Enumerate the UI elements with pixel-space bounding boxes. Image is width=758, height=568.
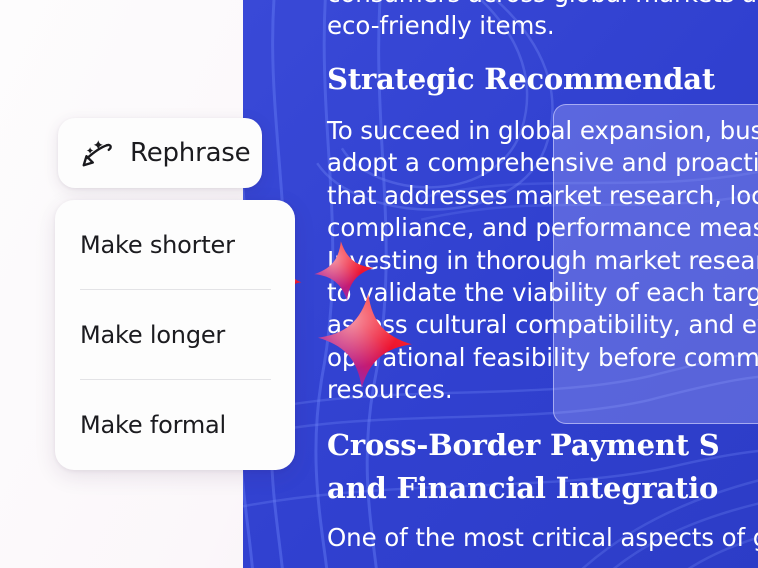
rephrase-button-label: Rephrase — [130, 138, 250, 168]
menu-item-label: Make formal — [80, 411, 226, 439]
magic-wand-sparkle-icon — [76, 133, 116, 173]
heading-strategic-recommendations: Strategic Recommendat — [327, 58, 758, 101]
rephrase-options-menu: Make shorter Make longer Make formal — [55, 200, 295, 470]
screen-root: consumers across global markets and eco-… — [0, 0, 758, 568]
menu-item-make-formal[interactable]: Make formal — [55, 380, 295, 469]
menu-item-label: Make longer — [80, 321, 225, 349]
intro-paragraph: consumers across global markets and eco-… — [327, 0, 758, 43]
rephrase-button[interactable]: Rephrase — [58, 118, 262, 188]
menu-item-make-shorter[interactable]: Make shorter — [55, 200, 295, 289]
menu-item-make-longer[interactable]: Make longer — [55, 290, 295, 379]
menu-item-label: Make shorter — [80, 231, 235, 259]
closing-paragraph: One of the most critical aspects of g — [327, 522, 758, 554]
document-panel: consumers across global markets and eco-… — [243, 0, 758, 568]
heading-cross-border-payment: Cross-Border Payment S and Financial Int… — [327, 424, 758, 510]
selected-paragraph[interactable]: To succeed in global expansion, bus adop… — [327, 115, 758, 407]
